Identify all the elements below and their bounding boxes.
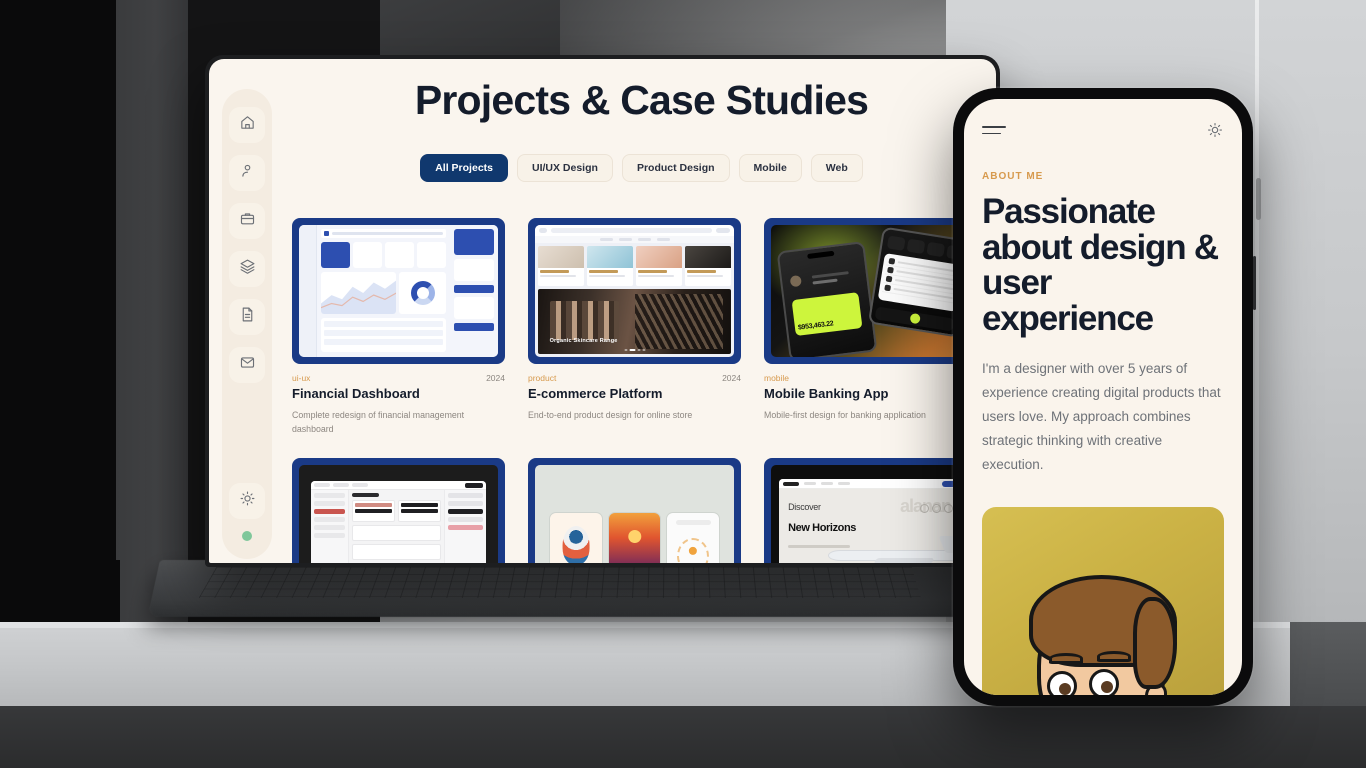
avatar-card bbox=[982, 507, 1224, 695]
phone-side-button[interactable] bbox=[1253, 256, 1256, 310]
sidebar-item-profile[interactable] bbox=[229, 155, 265, 191]
status-dot bbox=[242, 531, 252, 541]
project-card[interactable] bbox=[292, 458, 505, 563]
project-thumbnail bbox=[292, 218, 505, 364]
briefcase-icon bbox=[239, 210, 256, 232]
laptop-keyboard-deck bbox=[148, 560, 983, 617]
laptop-keys bbox=[199, 567, 921, 598]
background-right-nub bbox=[1256, 178, 1261, 220]
about-body-text: I'm a designer with over 5 years of expe… bbox=[982, 357, 1224, 477]
avatar bbox=[1023, 575, 1183, 695]
sidebar-item-contact[interactable] bbox=[229, 347, 265, 383]
project-thumbnail: Organic Skincare Range bbox=[528, 218, 741, 364]
ecommerce-mockup: Organic Skincare Range bbox=[535, 225, 734, 357]
thumb-heading-1: Discover bbox=[788, 502, 821, 512]
laptop-base-assembly bbox=[160, 560, 970, 630]
sidebar-item-work[interactable] bbox=[229, 203, 265, 239]
laptop-screen: Projects & Case Studies All Projects UI/… bbox=[209, 59, 996, 563]
project-thumbnail bbox=[528, 458, 741, 563]
design-tool-mockup bbox=[299, 465, 498, 563]
project-meta: mobile 2024 bbox=[764, 373, 977, 383]
layers-icon bbox=[239, 258, 256, 280]
project-card[interactable]: $953,463.22 bbox=[764, 218, 977, 436]
project-description: Complete redesign of financial managemen… bbox=[292, 409, 497, 436]
project-title: Financial Dashboard bbox=[292, 386, 505, 401]
project-description: End-to-end product design for online sto… bbox=[528, 409, 733, 423]
phone-screen: ABOUT ME Passionate about design & user … bbox=[964, 99, 1242, 695]
sun-icon[interactable] bbox=[1206, 121, 1224, 139]
filter-all-projects[interactable]: All Projects bbox=[420, 154, 508, 182]
projects-grid: ui-ux 2024 Financial Dashboard Complete … bbox=[292, 218, 996, 563]
home-icon bbox=[239, 114, 256, 136]
laptop-screen-bezel: Projects & Case Studies All Projects UI/… bbox=[205, 55, 1000, 567]
theme-toggle-button[interactable] bbox=[229, 483, 265, 519]
document-icon bbox=[239, 306, 256, 328]
page-title: Projects & Case Studies bbox=[287, 77, 996, 124]
thumb-caption: Organic Skincare Range bbox=[550, 338, 618, 344]
project-card[interactable]: ui-ux 2024 Financial Dashboard Complete … bbox=[292, 218, 505, 436]
project-year: 2024 bbox=[722, 373, 741, 383]
filter-product-design[interactable]: Product Design bbox=[622, 154, 730, 182]
about-heading: Passionate about design & user experienc… bbox=[982, 194, 1224, 337]
phone-device: ABOUT ME Passionate about design & user … bbox=[953, 88, 1253, 706]
pedestal-side bbox=[1290, 622, 1366, 706]
mail-icon bbox=[239, 354, 256, 376]
filter-mobile[interactable]: Mobile bbox=[739, 154, 802, 182]
project-description: Mobile-first design for banking applicat… bbox=[764, 409, 969, 423]
project-thumbnail bbox=[292, 458, 505, 563]
project-tag: mobile bbox=[764, 373, 789, 383]
project-card[interactable]: alanan Discover New Horizons bbox=[764, 458, 977, 563]
hamburger-icon[interactable] bbox=[982, 126, 1006, 135]
filter-uiux-design[interactable]: UI/UX Design bbox=[517, 154, 613, 182]
travel-site-mockup: alanan Discover New Horizons bbox=[771, 465, 970, 563]
filter-pill-group: All Projects UI/UX Design Product Design… bbox=[287, 154, 996, 182]
pedestal-front bbox=[0, 706, 1366, 768]
sidebar-item-home[interactable] bbox=[229, 107, 265, 143]
project-title: E-commerce Platform bbox=[528, 386, 741, 401]
project-title: Mobile Banking App bbox=[764, 386, 977, 401]
product-mockup-scene: Projects & Case Studies All Projects UI/… bbox=[0, 0, 1366, 768]
main-content: Projects & Case Studies All Projects UI/… bbox=[287, 59, 996, 563]
sidebar-item-projects[interactable] bbox=[229, 251, 265, 287]
filter-web[interactable]: Web bbox=[811, 154, 863, 182]
project-thumbnail: alanan Discover New Horizons bbox=[764, 458, 977, 563]
project-tag: ui-ux bbox=[292, 373, 310, 383]
phone-topbar bbox=[982, 115, 1224, 145]
user-icon bbox=[239, 162, 256, 184]
dashboard-mockup bbox=[299, 225, 498, 357]
project-meta: ui-ux 2024 bbox=[292, 373, 505, 383]
sidebar-item-resume[interactable] bbox=[229, 299, 265, 335]
sidebar-rail bbox=[222, 89, 272, 559]
sun-icon bbox=[239, 490, 256, 512]
banking-mockup: $953,463.22 bbox=[771, 225, 970, 357]
about-eyebrow: ABOUT ME bbox=[982, 171, 1224, 182]
mobile-apps-mockup bbox=[535, 465, 734, 563]
project-card[interactable] bbox=[528, 458, 741, 563]
project-tag: product bbox=[528, 373, 556, 383]
project-card[interactable]: Organic Skincare Range product 2024 E-co… bbox=[528, 218, 741, 436]
background-right-edge bbox=[1255, 0, 1259, 700]
project-meta: product 2024 bbox=[528, 373, 741, 383]
project-year: 2024 bbox=[486, 373, 505, 383]
project-thumbnail: $953,463.22 bbox=[764, 218, 977, 364]
